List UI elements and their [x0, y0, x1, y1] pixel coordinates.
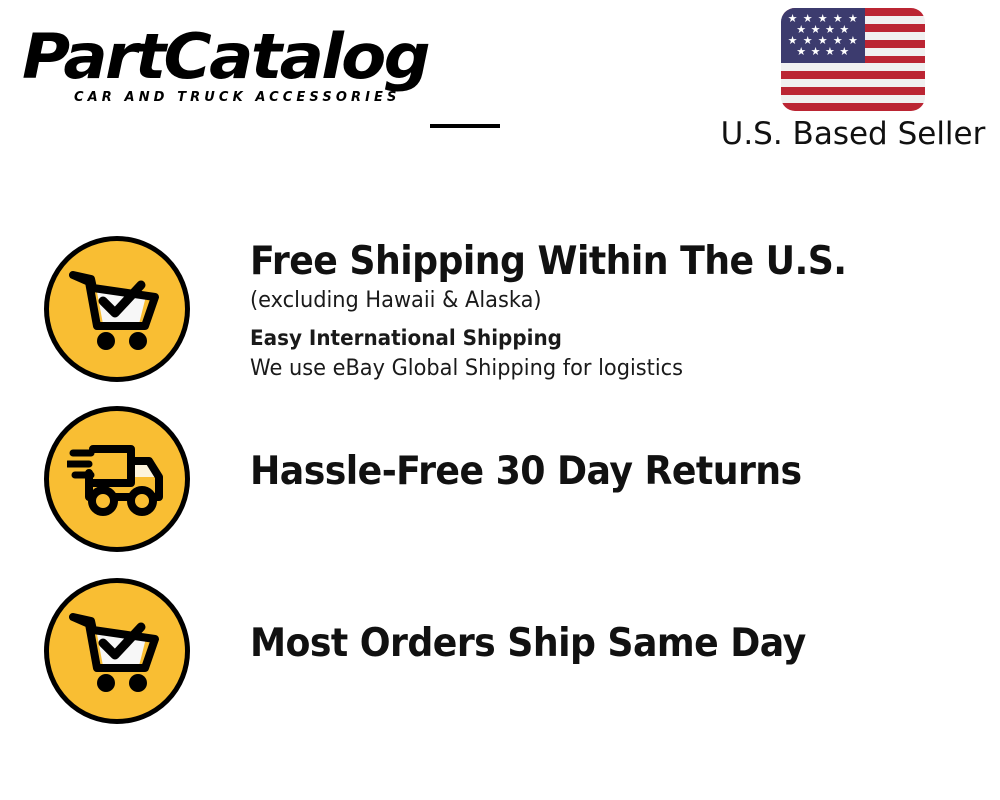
shopping-cart-check-icon: [44, 578, 190, 724]
feature-text-block: Free Shipping Within The U.S. (excluding…: [250, 236, 1000, 384]
flag-star-icon: ★: [839, 47, 849, 58]
flag-star-icon: ★: [825, 47, 835, 58]
shopping-cart-check-icon: [44, 236, 190, 382]
feature-sub-heading: Easy International Shipping: [250, 322, 963, 354]
feature-text-block: Most Orders Ship Same Day: [250, 578, 1000, 668]
flag-stripe: [781, 79, 925, 87]
flag-star-icon: ★: [848, 36, 858, 47]
feature-row-free-shipping: Free Shipping Within The U.S. (excluding…: [0, 236, 1000, 384]
flag-star-icon: ★: [833, 36, 843, 47]
flag-star-icon: ★: [788, 36, 798, 47]
flag-star-icon: ★: [796, 47, 806, 58]
flag-star-icon: ★: [811, 47, 821, 58]
brand-wordmark: PartCatalog: [22, 26, 520, 88]
us-based-seller-badge: ★ ★ ★ ★ ★ ★ ★ ★ ★ ★ ★ ★ ★ ★: [718, 8, 988, 153]
delivery-truck-icon: [44, 406, 190, 552]
flag-star-icon: ★: [803, 36, 813, 47]
brand-logo[interactable]: PartCatalog CAR AND TRUCK ACCESSORIES: [22, 26, 492, 121]
seller-label: U.S. Based Seller: [718, 115, 988, 153]
feature-text-block: Hassle-Free 30 Day Returns: [250, 406, 1000, 496]
feature-row-same-day-ship: Most Orders Ship Same Day: [0, 578, 1000, 724]
flag-star-icon: ★: [818, 36, 828, 47]
brand-underline-rule: [430, 124, 500, 128]
flag-stripe: [781, 87, 925, 95]
flag-stripe: [781, 63, 925, 71]
page-header: PartCatalog CAR AND TRUCK ACCESSORIES: [0, 0, 1000, 175]
feature-title: Hassle-Free 30 Day Returns: [250, 448, 948, 496]
feature-title: Most Orders Ship Same Day: [250, 620, 948, 668]
feature-title: Free Shipping Within The U.S.: [250, 238, 948, 286]
flag-stripe: [781, 95, 925, 103]
feature-row-returns: Hassle-Free 30 Day Returns: [0, 406, 1000, 552]
us-flag-icon: ★ ★ ★ ★ ★ ★ ★ ★ ★ ★ ★ ★ ★ ★: [781, 8, 925, 111]
feature-sub-detail: We use eBay Global Shipping for logistic…: [250, 354, 963, 384]
flag-star-row: ★ ★ ★ ★ ★: [785, 36, 861, 47]
flag-stripe: [781, 103, 925, 111]
flag-star-row: ★ ★ ★ ★: [785, 47, 861, 58]
flag-canton: ★ ★ ★ ★ ★ ★ ★ ★ ★ ★ ★ ★ ★ ★: [781, 8, 865, 63]
flag-stripe: [781, 71, 925, 79]
flag-star-icon: ★: [848, 14, 858, 25]
feature-sub-note: (excluding Hawaii & Alaska): [250, 286, 963, 316]
